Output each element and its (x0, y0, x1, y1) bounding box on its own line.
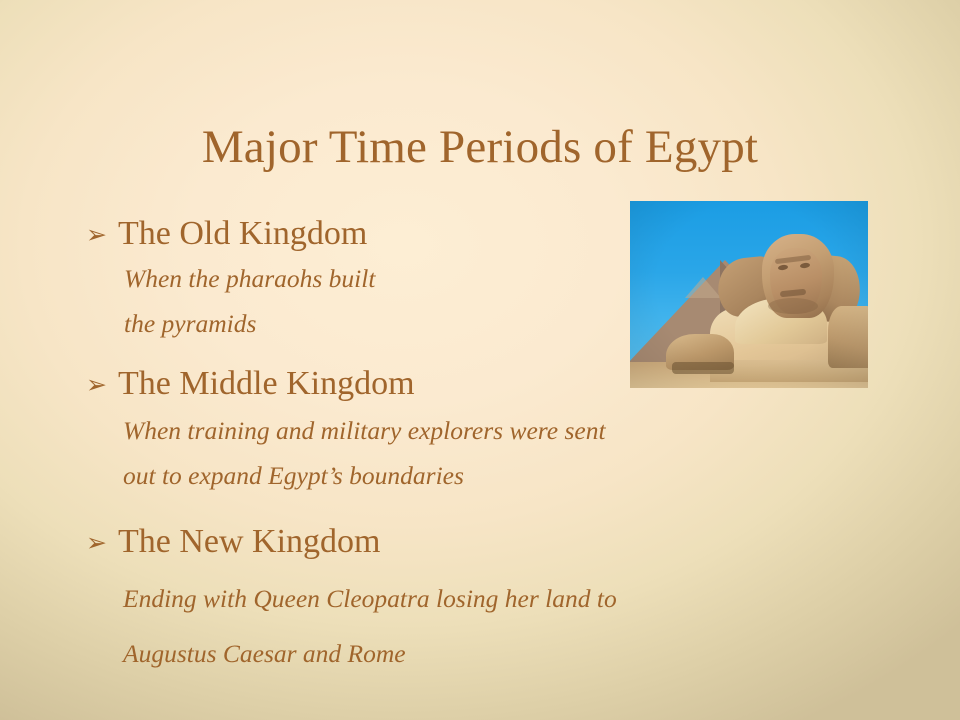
sphinx-pyramid-photo (630, 201, 868, 388)
arrowhead-bullet-icon: ➢ (86, 222, 118, 247)
page-title: Major Time Periods of Egypt (0, 123, 960, 172)
arrowhead-bullet-icon: ➢ (86, 530, 118, 555)
photo-pyramid-cap (685, 277, 721, 298)
bullet-subtext-line: Augustus Caesar and Rome (86, 637, 896, 672)
bullet-subtext-line: When training and military explorers wer… (86, 414, 896, 449)
bullet-heading: ➢ The New Kingdom (86, 522, 896, 562)
bullet-heading-label: The New Kingdom (118, 522, 381, 562)
photo-foreground-rock-shadow (672, 362, 734, 374)
bullet-block-new-kingdom: ➢ The New Kingdom Ending with Queen Cleo… (86, 522, 896, 672)
bullet-heading-label: The Middle Kingdom (118, 364, 415, 404)
bullet-subtext-line: Ending with Queen Cleopatra losing her l… (86, 582, 896, 617)
slide-canvas: Major Time Periods of Egypt ➢ The Old Ki… (0, 0, 960, 720)
photo-sphinx-chin-shadow (768, 298, 818, 314)
bullet-heading-label: The Old Kingdom (118, 214, 367, 254)
arrowhead-bullet-icon: ➢ (86, 372, 118, 397)
bullet-subtext-line: out to expand Egypt’s boundaries (86, 459, 896, 494)
photo-right-rock (828, 306, 868, 368)
